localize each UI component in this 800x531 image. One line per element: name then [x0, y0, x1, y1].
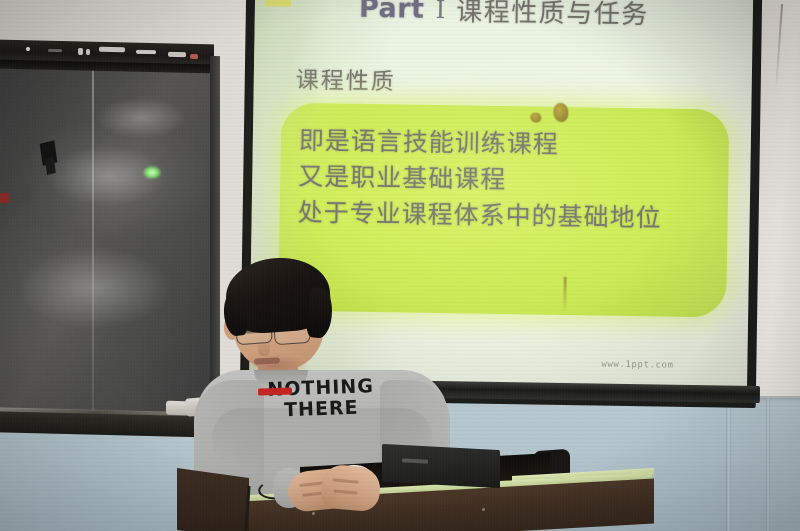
knuckle-line — [334, 490, 358, 495]
chalk — [78, 48, 83, 55]
knuckle-line — [333, 478, 359, 483]
blackboard-magnet — [0, 193, 10, 203]
wall-pipe-right — [766, 398, 770, 531]
chalk — [26, 47, 30, 51]
slide-bullet-2: 处于专业课程体系中的基础地位 — [297, 195, 728, 238]
slide-title-part: Part — [359, 0, 425, 24]
sweatshirt-strike-mark — [258, 387, 292, 395]
lectern-left-panel — [177, 468, 249, 531]
clasped-hands — [288, 466, 398, 516]
chalk-smudge — [96, 98, 186, 138]
chalk — [136, 50, 156, 54]
screenshot-root: Part I 课程性质与任务 课程性质 即是语言技能训练课程 又是职业基础课程 … — [0, 0, 800, 531]
screen-stain — [553, 103, 568, 122]
slide-title-numeral: I — [433, 0, 447, 24]
green-light-reflection-icon — [143, 166, 161, 179]
slide-bullet-list: 即是语言技能训练课程 又是职业基础课程 处于专业课程体系中的基础地位 — [297, 123, 729, 238]
hand-right — [320, 464, 382, 513]
chalk — [168, 52, 186, 57]
screen-stain-streak — [563, 277, 567, 313]
chalk-colored — [190, 54, 198, 59]
blackboard — [0, 38, 218, 431]
chalk — [99, 47, 125, 53]
slide-title-chinese: 课程性质与任务 — [456, 0, 649, 31]
chalk — [86, 49, 90, 55]
blackboard-clip — [40, 140, 58, 166]
wall-pipe-left — [726, 398, 731, 531]
sweatshirt-graphic: NOTHING THERE — [255, 376, 386, 423]
blackboard-panel-seam — [92, 60, 94, 412]
screen-stain — [530, 112, 541, 122]
laptop[interactable] — [382, 447, 502, 487]
chalk — [48, 49, 62, 52]
sweatshirt-text-line2: THERE — [284, 398, 359, 422]
lectern-bolt — [482, 508, 485, 511]
slide-subtitle: 课程性质 — [296, 61, 397, 97]
chalk-smudge — [20, 248, 170, 328]
slide-watermark: www.1ppt.com — [601, 360, 673, 371]
laptop-lid — [382, 444, 500, 488]
